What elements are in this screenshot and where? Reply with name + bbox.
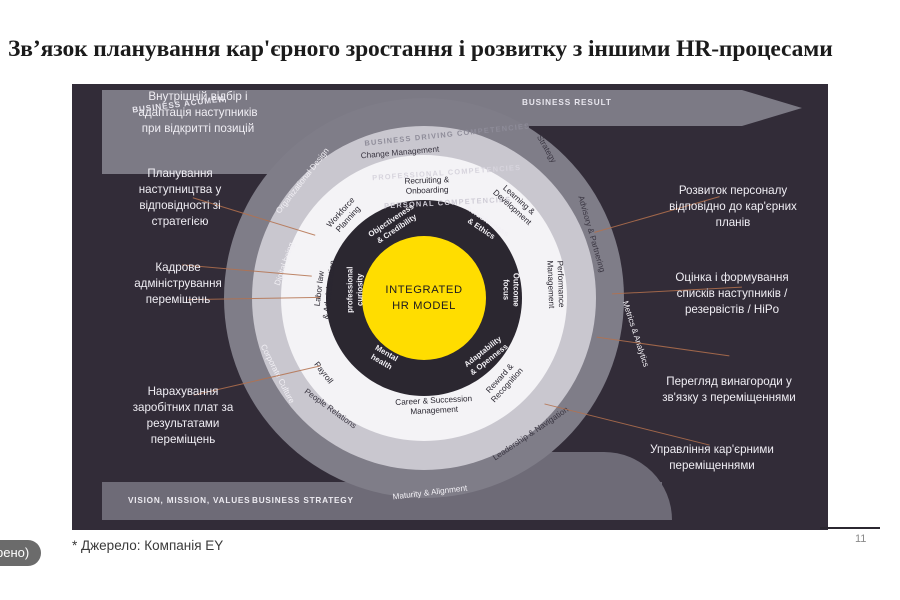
slide-canvas: Зв’язок планування кар'єрного зростання … (0, 0, 900, 600)
business-strategy-label: BUSINESS STRATEGY (252, 496, 354, 505)
page-number-rule (820, 527, 880, 529)
page-title: Зв’язок планування кар'єрного зростання … (8, 36, 898, 63)
callout-right-1: Розвиток персоналу відповідно до кар'єрн… (638, 183, 828, 231)
vision-mission-values-label: VISION, MISSION, VALUES (128, 496, 250, 505)
callout-right-3: Перегляд винагороди у зв'язку з переміще… (634, 374, 824, 406)
callout-right-4: Управління кар'єрними переміщеннями (620, 442, 804, 474)
core-integrated-hr-model: INTEGRATED HR MODEL (362, 236, 486, 360)
page-number: 11 (855, 533, 866, 545)
status-pill-badge[interactable]: верено) (0, 540, 41, 566)
callout-left-3: Кадрове адміністрування переміщень (92, 260, 264, 308)
business-result-label: BUSINESS RESULT (522, 98, 612, 107)
callout-left-4: Нарахування заробітних плат за результат… (90, 384, 276, 448)
core-label: INTEGRATED HR MODEL (364, 282, 484, 314)
source-note: * Джерело: Компанія EY (72, 538, 223, 553)
core-line-2: HR MODEL (364, 298, 484, 314)
callout-left-2: Планування наступництва у відповідності … (92, 166, 268, 230)
core-line-1: INTEGRATED (364, 282, 484, 298)
hr-model-figure: BUSINESS ACUMEN BUSINESS RESULT VISION, … (72, 84, 828, 530)
callout-left-1: Внутрішній відбір і адаптація наступникі… (100, 89, 296, 137)
callout-right-2: Оцінка і формування списків наступників … (638, 270, 826, 318)
